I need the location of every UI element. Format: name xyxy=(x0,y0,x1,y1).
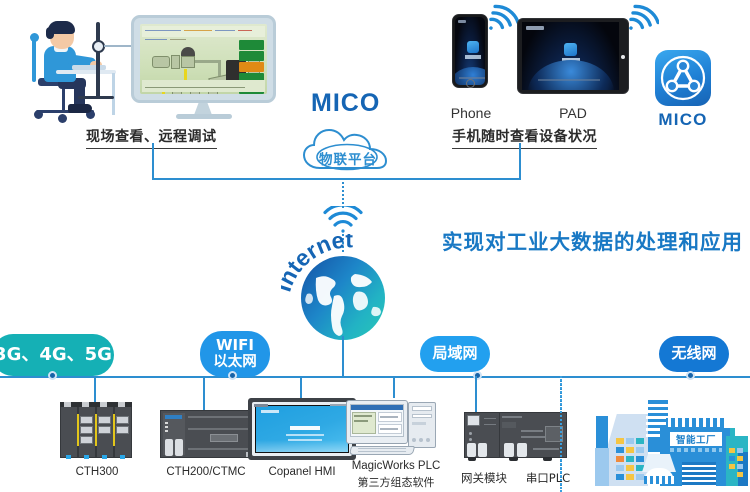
device-cth300 xyxy=(60,402,132,460)
drop-line-gateway xyxy=(475,376,477,412)
device-gateway xyxy=(464,412,500,458)
drop-line-copanel xyxy=(300,376,302,398)
monitor-arm xyxy=(96,22,100,98)
drop-line-magicworks xyxy=(393,376,395,398)
monitor-stand-foot xyxy=(78,96,114,99)
device-serialplc xyxy=(499,412,567,458)
pill-mobile-dot xyxy=(48,371,57,380)
drop-line-cth200 xyxy=(203,376,205,410)
device-magicworks-sublabel: 第三方组态软件 xyxy=(338,474,454,490)
pill-lan[interactable]: 局域网 xyxy=(420,336,490,372)
pill-wireless-label: 无线网 xyxy=(671,346,716,362)
pill-wifi-label-2: 以太网 xyxy=(213,355,257,370)
device-gateway-label: 网关模块 xyxy=(448,470,520,486)
svg-text:Internet: Internet xyxy=(281,234,353,295)
device-cth200-label: CTH200/CTMC xyxy=(155,466,257,478)
monitor-base xyxy=(176,114,232,119)
tagline: 实现对工业大数据的处理和应用 xyxy=(442,225,743,255)
scada-button xyxy=(239,40,264,50)
monitor-arm-link xyxy=(104,45,134,47)
pill-wifi-label-1: WIFI xyxy=(216,338,254,354)
mico-app-label: MICO xyxy=(655,110,711,130)
scada-button xyxy=(239,62,264,72)
device-magicworks xyxy=(346,398,442,460)
iot-cloud-label: 物联平台 xyxy=(300,148,396,168)
device-cth300-label: CTH300 xyxy=(56,466,138,478)
mico-app-icon[interactable] xyxy=(655,50,711,106)
device-copanel xyxy=(248,398,356,460)
pill-wifi-dot xyxy=(228,371,237,380)
phone-label: Phone xyxy=(443,105,499,121)
pill-lan-label: 局域网 xyxy=(432,346,477,362)
iot-cloud: 物联平台 xyxy=(300,124,396,172)
person-illustration xyxy=(18,18,128,133)
connector-top-horizontal xyxy=(152,178,521,180)
globe-to-bus-line xyxy=(342,336,344,377)
pill-mobile[interactable]: 3G、4G、5G xyxy=(0,334,114,376)
phone-wifi-icon xyxy=(485,2,519,37)
pad-label: PAD xyxy=(545,105,601,121)
internet-word: Internet xyxy=(281,234,411,304)
pill-wifi[interactable]: WIFI 以太网 xyxy=(200,331,270,377)
drop-line-cth300 xyxy=(94,376,96,402)
pill-wireless[interactable]: 无线网 xyxy=(659,336,729,372)
connector-left-vertical xyxy=(152,143,154,179)
infographic-canvas: 现场查看、远程调试 MICO 物联平台 Phone xyxy=(0,0,750,492)
caption-right: 手机随时查看设备状况 xyxy=(452,126,597,149)
pill-mobile-label: 3G、4G、5G xyxy=(0,346,112,365)
connector-right-vertical xyxy=(519,143,521,179)
mico-brand-top: MICO xyxy=(311,89,380,118)
internet-globe: Internet xyxy=(293,244,393,344)
smart-factory: 智能工厂 xyxy=(578,392,748,492)
connector-dotted-to-wifi xyxy=(342,178,344,208)
scada-button xyxy=(239,51,264,61)
pad-device xyxy=(517,18,629,94)
device-cth200 xyxy=(160,410,252,458)
scada-screen xyxy=(140,24,267,94)
phone-device xyxy=(452,14,488,88)
desktop-monitor xyxy=(131,15,276,103)
pad-wifi-icon xyxy=(625,2,659,37)
mico-network-glyph xyxy=(655,50,711,106)
smart-factory-sign: 智能工厂 xyxy=(676,432,716,446)
device-magicworks-label: MagicWorks PLC xyxy=(338,460,454,472)
